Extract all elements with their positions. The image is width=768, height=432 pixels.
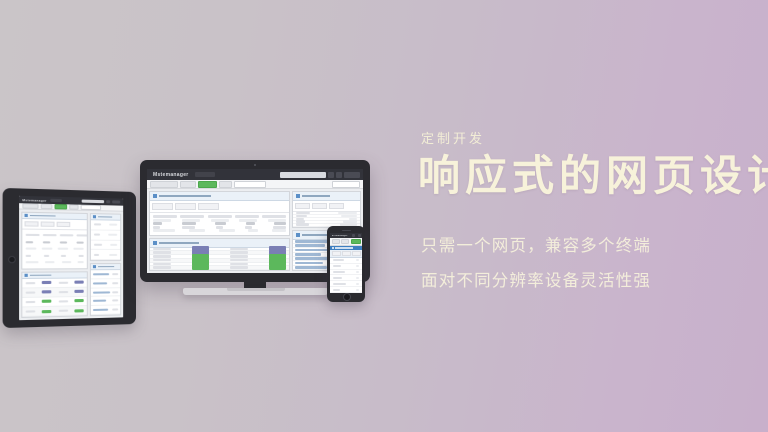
tablet-dashboard-ui: Mstemanager [19,196,123,320]
tablet-detail-panel [90,213,121,261]
section-icon [332,247,334,249]
tablet-search-input[interactable] [82,199,104,203]
eyebrow-text: 定制开发 [421,128,757,147]
mobile-primary-action[interactable] [351,239,361,244]
mobile-toolbar [330,238,362,246]
list-item[interactable] [91,270,120,279]
table-row[interactable] [150,266,289,270]
panel-icon [153,241,157,245]
mobile-icon-button[interactable] [352,234,355,237]
spacer [62,201,82,202]
phone-speaker-icon [342,230,351,232]
grid-row [26,255,84,257]
tablet-stats-tabs [22,219,87,230]
secondary-filter[interactable] [332,181,360,188]
breadcrumb[interactable] [150,181,178,188]
grid-row [26,241,84,243]
tab-item[interactable] [312,203,327,209]
search-input[interactable] [280,172,326,178]
device-smartphone: Mstemanager [327,226,365,302]
tablet-list-panel [90,263,121,316]
phone-screen: Mstemanager [330,233,362,293]
tab-item[interactable] [329,203,344,209]
device-tablet: Mstemanager [3,188,136,328]
detail-panel-title [302,195,330,197]
table-panel-title [159,242,199,244]
tab-item[interactable] [332,251,341,256]
tablet-list-rows [91,270,120,315]
tab-item[interactable] [41,221,55,226]
tablet-stats-panel [21,212,88,270]
tab-item[interactable] [352,251,361,256]
detail-rows [293,212,360,227]
tablet-list-title [98,266,114,268]
stats-panel [149,191,290,236]
toolbar-button[interactable] [180,181,196,188]
tablet-main-column [21,212,88,318]
grid-row [26,234,84,237]
tab-item[interactable] [175,203,196,210]
stats-panel-header [150,192,289,201]
tablet-topbar-chip[interactable] [50,199,62,202]
tablet-user-menu[interactable] [112,200,120,204]
gear-icon[interactable] [336,172,342,178]
tablet-table-rows [22,278,87,317]
phone-home-button[interactable] [343,293,351,301]
mobile-list [330,258,362,293]
tablet-side-column [90,213,121,316]
tablet-stats-title [29,215,55,217]
ui-toolbar [147,180,363,189]
mobile-menu-icon[interactable] [358,234,361,237]
main-column [149,191,290,271]
detail-row [91,220,120,230]
panel-icon [25,214,28,217]
tablet-table-panel [21,271,88,318]
tablet-stats-grid [22,230,87,269]
detail-panel [292,191,361,228]
detail-row [91,250,120,260]
tablet-ui-body [19,210,123,321]
tablet-detail-title [98,216,112,218]
bell-icon[interactable] [328,172,334,178]
table-row[interactable] [22,306,87,317]
detail-tabs [293,201,360,212]
stats-panel-title [159,195,211,197]
marketing-copy: 定制开发 响应式的网页设计 只需一个网页，兼容多个终端 面对不同分辨率设备灵活性… [417,128,757,291]
detail-row [91,230,120,240]
filter-input[interactable] [234,181,266,188]
brand-label: Mstemanager [153,172,189,178]
mobile-brand-label: Mstemanager [332,235,350,237]
stats-tabs [150,201,289,213]
promo-banner: Mstemanager [0,0,768,432]
stats-grid [150,213,289,235]
subtitle-line-1: 只需一个网页，兼容多个终端 [421,232,757,256]
monitor-stand-base [183,288,328,295]
primary-action-button[interactable] [198,181,217,188]
tablet-filter-input[interactable] [81,205,101,211]
subtitle-line-2: 面对不同分辨率设备灵活性强 [421,267,757,291]
tablet-table-title [29,274,50,276]
tablet-toolbar-item[interactable] [69,204,78,209]
user-menu[interactable] [344,172,360,178]
mobile-tabs [330,250,362,258]
mobile-toolbar-button[interactable] [332,239,341,244]
toolbar-button[interactable] [219,181,232,188]
tab-item[interactable] [152,203,173,210]
grid-row [153,229,286,232]
tablet-detail-rows [91,220,120,260]
panel-icon [153,194,157,198]
webcam-icon [254,164,256,166]
tab-item[interactable] [198,203,219,210]
page-title: 响应式的网页设计 [418,153,757,198]
table-rows [150,248,289,270]
tablet-brand-label: Mstemanager [22,197,46,202]
tab-item[interactable] [295,203,310,209]
tab-item[interactable] [25,221,39,226]
mobile-section-title [335,247,353,249]
list-item[interactable] [91,279,120,288]
ui-topbar: Mstemanager [147,169,363,180]
tab-item[interactable] [57,222,71,227]
mobile-dashboard-ui: Mstemanager [330,233,362,293]
panel-icon [296,194,300,198]
table-panel [149,238,290,271]
grid-row [26,248,84,250]
detail-panel-header [293,192,360,201]
tablet-icon-button[interactable] [106,200,110,204]
tablet-toolbar-item[interactable] [41,204,53,209]
tablet-bezel: Mstemanager [3,188,136,328]
tablet-primary-action[interactable] [55,204,68,209]
phone-bezel: Mstemanager [327,226,365,302]
topbar-nav-chip[interactable] [195,172,215,177]
detail-row [91,240,120,250]
mobile-toolbar-button[interactable] [341,239,348,244]
list-item[interactable] [91,306,120,316]
grid-row [26,262,84,264]
tablet-toolbar-item[interactable] [22,203,38,209]
panel-icon [296,233,300,237]
tab-item[interactable] [342,251,351,256]
tablet-screen: Mstemanager [19,196,123,320]
tablet-home-button[interactable] [8,255,16,262]
